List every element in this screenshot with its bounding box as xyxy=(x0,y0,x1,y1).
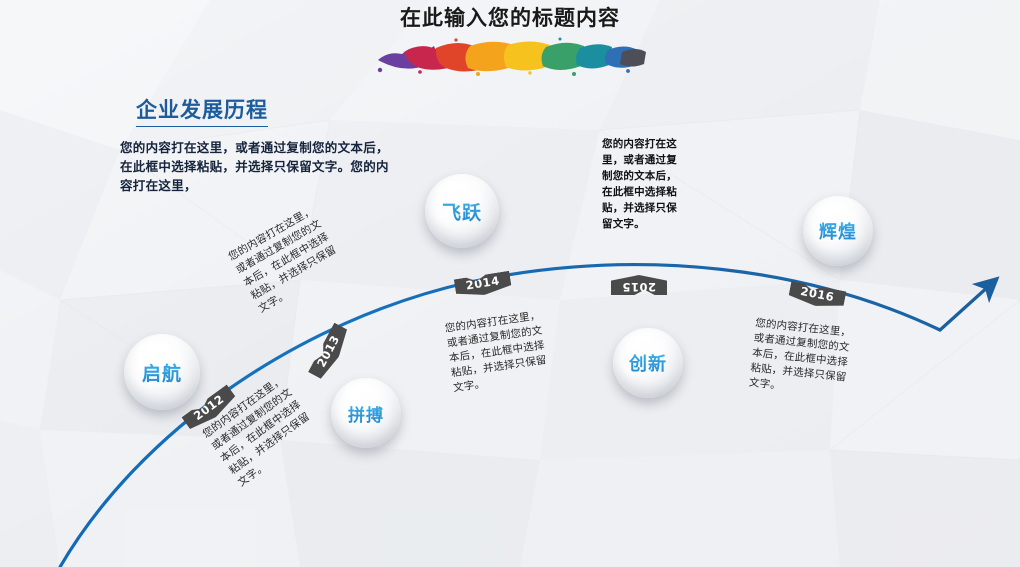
milestone-ball-2[interactable]: 拼搏 xyxy=(331,378,401,448)
milestone-label-3: 飞跃 xyxy=(442,198,482,225)
milestone-caption-4: 您的内容打在这里，或者通过复制您的文本后，在此框中选择粘贴，并选择只保留文字。 xyxy=(602,136,686,232)
milestone-ball-1[interactable]: 启航 xyxy=(124,334,200,410)
milestone-ball-4[interactable]: 创新 xyxy=(613,328,683,398)
milestone-caption-5: 您的内容打在这里，或者通过复制您的文本后，在此框中选择粘贴，并选择只保留文字。 xyxy=(748,316,855,401)
slide-canvas: 在此输入您的标题内容 企业发展历程 您的内容打在这里，或者通过复制您的文本后，在… xyxy=(0,0,1020,567)
milestone-ball-3[interactable]: 飞跃 xyxy=(425,174,499,248)
milestone-label-2: 拼搏 xyxy=(348,401,384,426)
milestone-caption-3: 您的内容打在这里，或者通过复制您的文本后，在此框中选择粘贴，并选择只保留文字。 xyxy=(444,308,553,396)
year-label-2015: 2015 xyxy=(622,280,656,294)
milestone-label-5: 辉煌 xyxy=(819,218,857,244)
milestone-ball-5[interactable]: 辉煌 xyxy=(803,196,873,266)
milestone-label-1: 启航 xyxy=(142,359,182,386)
milestone-label-4: 创新 xyxy=(629,350,667,376)
